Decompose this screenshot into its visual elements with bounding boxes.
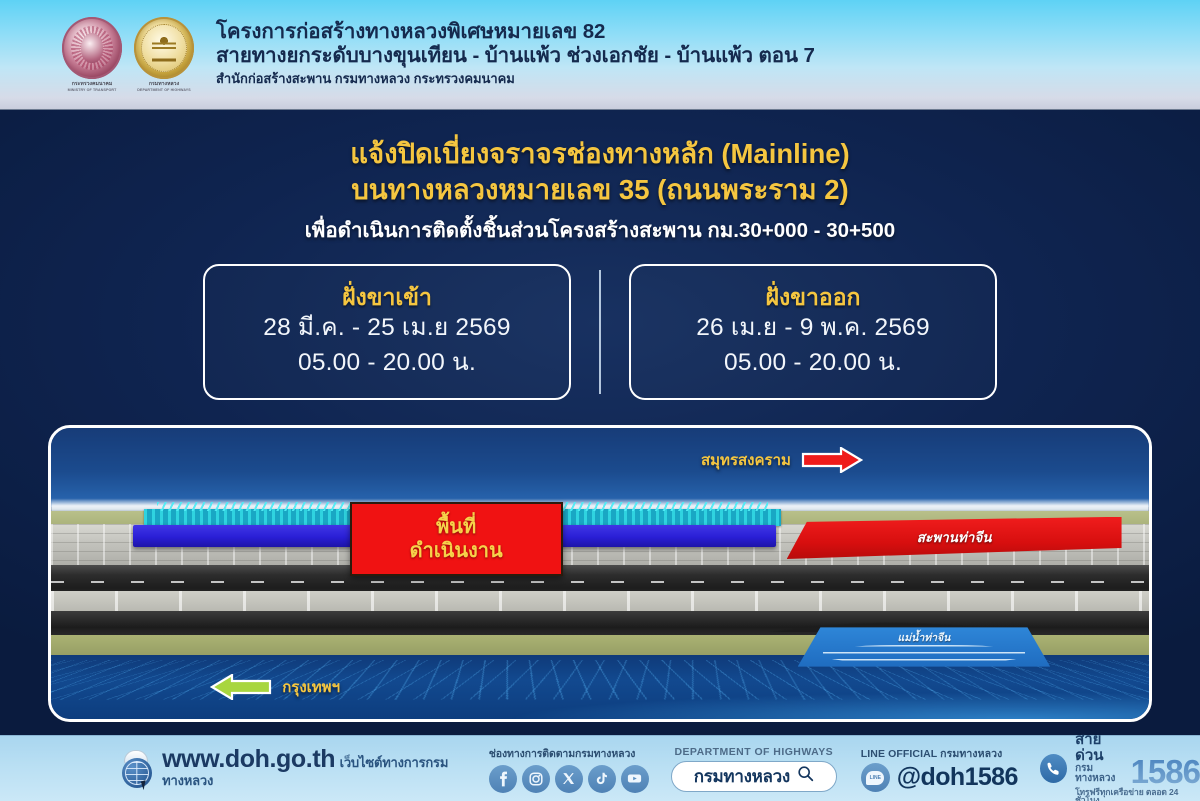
instagram-icon[interactable] [522, 765, 550, 793]
line-official-block: LINE OFFICIAL กรมทางหลวง LINE @doh1586 [861, 745, 1018, 792]
schedule-card-inbound: ฝั่งขาเข้า 28 มี.ค. - 25 เม.ย 2569 05.00… [203, 264, 571, 400]
project-title-line-2: สายทางยกระดับบางขุนเทียน - บ้านแพ้ว ช่วง… [216, 44, 815, 68]
traffic-announcement-poster: กระทรวงคมนาคม MINISTRY OF TRANSPORT กรมท… [0, 0, 1200, 801]
project-agency-line: สำนักก่อสร้างสะพาน กรมทางหลวง กระทรวงคมน… [216, 68, 815, 89]
search-value: กรมทางหลวง [694, 763, 790, 790]
announcement-heading: แจ้งปิดเบี่ยงจราจรช่องทางหลัก (Mainline)… [0, 110, 1200, 244]
schedule-divider [599, 270, 601, 394]
header-title-block: โครงการก่อสร้างทางหลวงพิเศษหมายเลข 82 สา… [216, 20, 815, 88]
hotline-block: สายด่วน กรมทางหลวง 1586 โทรฟรีทุกเครือข่… [1040, 732, 1200, 801]
search-input[interactable]: กรมทางหลวง [671, 761, 837, 792]
mot-caption-en: MINISTRY OF TRANSPORT [60, 88, 124, 92]
arrow-right-icon [801, 447, 863, 473]
phone-icon [1040, 754, 1067, 783]
hotline-number: 1586 [1131, 758, 1200, 785]
hotline-label-primary: สายด่วน [1075, 732, 1126, 764]
emblem-group: กระทรวงคมนาคม MINISTRY OF TRANSPORT กรมท… [60, 17, 196, 92]
doh-caption-en: DEPARTMENT OF HIGHWAYS [132, 88, 196, 92]
direction-inbound-label: กรุงเทพฯ [282, 675, 340, 699]
outbound-date-range: 26 เม.ย - 9 พ.ค. 2569 [696, 311, 930, 346]
direction-outbound-group: สมุทรสงคราม [701, 447, 863, 473]
diagram-scene: สะพานท่าจีน แม่น้ำท่าจีน พื้นที่ ดำเนินง… [51, 428, 1149, 719]
direction-inbound-group: กรุงเทพฯ [210, 674, 340, 700]
social-icon-row [489, 765, 649, 793]
page-footer: www.doh.go.th เว็บไซต์ทางการกรมทางหลวง ช… [0, 735, 1200, 801]
work-zone-label-line-2: ดำเนินงาน [410, 539, 503, 564]
social-follow-block: ช่องทางการติดตามกรมทางหลวง [489, 745, 649, 793]
department-of-highways-seal-icon [134, 17, 194, 79]
social-follow-caption: ช่องทางการติดตามกรมทางหลวง [489, 745, 649, 762]
schedule-card-outbound: ฝั่งขาออก 26 เม.ย - 9 พ.ค. 2569 05.00 - … [629, 264, 997, 400]
tha-chin-bridge-label: สะพานท่าจีน [917, 526, 992, 548]
arrow-left-icon [210, 674, 272, 700]
hotline-note: โทรฟรีทุกเครือข่าย ตลอด 24 ชั่วโมง [1075, 788, 1200, 801]
line-app-icon[interactable]: LINE [861, 763, 890, 792]
x-twitter-icon[interactable] [555, 765, 583, 793]
cursor-arrow-icon [141, 778, 152, 789]
announcement-title-line-2: บนทางหลวงหมายเลข 35 (ถนนพระราม 2) [0, 172, 1200, 208]
search-caption: DEPARTMENT OF HIGHWAYS [671, 746, 837, 758]
scene-sky [51, 428, 1149, 507]
line-bubble-shape: LINE [866, 771, 884, 785]
tha-chin-river-callout: แม่น้ำท่าจีน [798, 627, 1051, 666]
work-zone-label-line-1: พื้นที่ [436, 515, 476, 540]
ministry-of-transport-seal-icon [62, 17, 122, 79]
search-block: DEPARTMENT OF HIGHWAYS กรมทางหลวง [671, 746, 837, 792]
doh-caption-th: กรมทางหลวง [149, 81, 179, 87]
inbound-direction-label: ฝั่งขาเข้า [342, 284, 432, 312]
globe-helmet-icon [118, 750, 153, 788]
line-official-caption: LINE OFFICIAL กรมทางหลวง [861, 745, 1018, 762]
facebook-icon[interactable] [489, 765, 517, 793]
outbound-time-range: 05.00 - 20.00 น. [724, 346, 902, 381]
construction-diagram-panel: สะพานท่าจีน แม่น้ำท่าจีน พื้นที่ ดำเนินง… [48, 425, 1152, 722]
website-url[interactable]: www.doh.go.th [162, 745, 335, 773]
youtube-icon[interactable] [621, 765, 649, 793]
announcement-title-line-1: แจ้งปิดเบี่ยงจราจรช่องทางหลัก (Mainline) [0, 136, 1200, 172]
ministry-of-transport-emblem: กระทรวงคมนาคม MINISTRY OF TRANSPORT [60, 17, 124, 92]
announcement-subtitle: เพื่อดำเนินการติดตั้งชิ้นส่วนโครงสร้างสะ… [0, 209, 1200, 245]
department-of-highways-emblem: กรมทางหลวง DEPARTMENT OF HIGHWAYS [132, 17, 196, 92]
inbound-time-range: 05.00 - 20.00 น. [298, 346, 476, 381]
tiktok-icon[interactable] [588, 765, 616, 793]
project-title-line-1: โครงการก่อสร้างทางหลวงพิเศษหมายเลข 82 [216, 20, 815, 44]
hotline-label-secondary: กรมทางหลวง [1075, 764, 1126, 785]
schedule-group: ฝั่งขาเข้า 28 มี.ค. - 25 เม.ย 2569 05.00… [0, 264, 1200, 400]
page-header: กระทรวงคมนาคม MINISTRY OF TRANSPORT กรมท… [0, 0, 1200, 110]
tha-chin-river-label: แม่น้ำท่าจีน [897, 629, 950, 646]
line-official-id[interactable]: @doh1586 [897, 765, 1018, 790]
direction-outbound-label: สมุทรสงคราม [701, 448, 791, 472]
inbound-date-range: 28 มี.ค. - 25 เม.ย 2569 [263, 311, 510, 346]
mot-caption-th: กระทรวงคมนาคม [72, 81, 113, 87]
website-block[interactable]: www.doh.go.th เว็บไซต์ทางการกรมทางหลวง [0, 747, 474, 790]
outbound-direction-label: ฝั่งขาออก [766, 284, 861, 312]
work-zone-callout: พื้นที่ ดำเนินงาน [350, 502, 563, 576]
curved-ramp [644, 556, 1138, 632]
search-icon[interactable] [797, 765, 814, 787]
